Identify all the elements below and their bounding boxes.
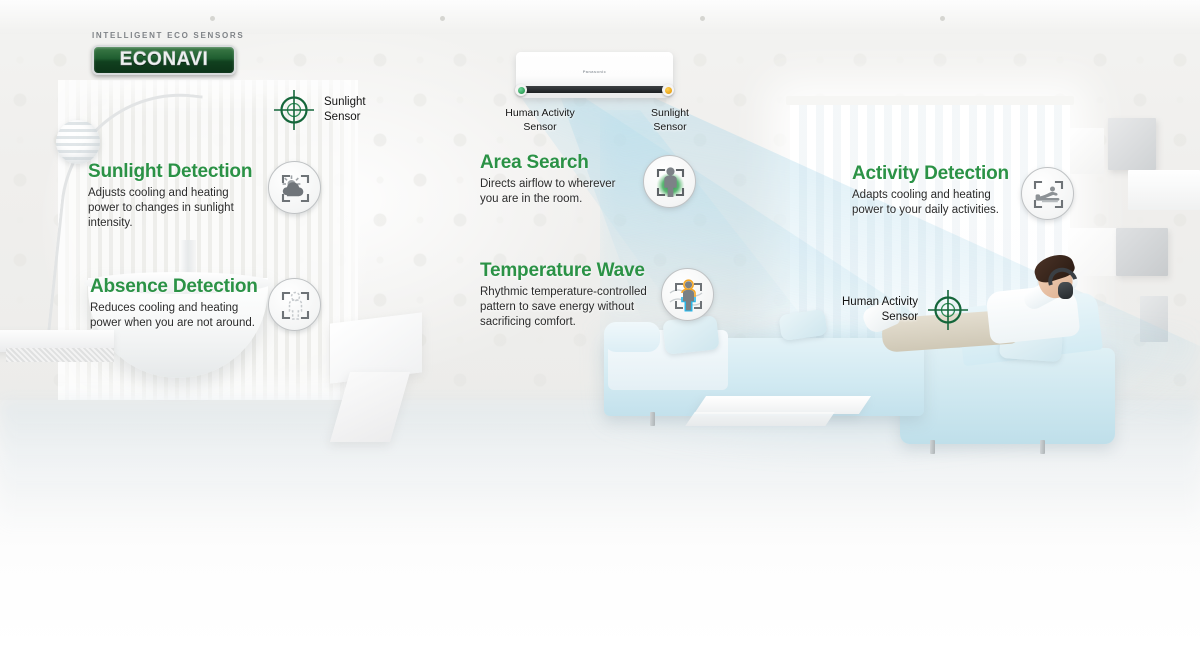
ac-brand-mark: Panasonic [583, 69, 607, 74]
headphone-earcup [1058, 282, 1073, 299]
absent-person-bracket-icon [268, 278, 321, 331]
crosshair-reticle-icon [272, 88, 316, 132]
sofa-leg [930, 440, 935, 454]
brand-block: INTELLIGENT ECO SENSORS ECONAVI [92, 31, 244, 75]
sofa-leg [650, 412, 655, 426]
feature-description: Reduces cooling and heating power when y… [90, 301, 276, 331]
econavi-logo-text: ECONAVI [120, 49, 209, 71]
ac-louver [522, 86, 667, 93]
feature-title: Sunlight Detection [88, 162, 268, 183]
sunlight-sensor-callout-label: Sunlight Sensor [324, 95, 366, 124]
ac-left-sensor-label: Human Activity Sensor [492, 107, 588, 134]
air-conditioner-unit: Panasonic [516, 52, 673, 98]
wall-shelf-cube [1128, 170, 1200, 210]
feature-description: Directs airflow to wherever you are in t… [480, 177, 662, 207]
feature-title: Absence Detection [90, 277, 276, 298]
brand-tagline: INTELLIGENT ECO SENSORS [92, 31, 244, 40]
floor-step-texture [6, 348, 114, 362]
feature-area-search: Area Search Directs airflow to wherever … [480, 153, 662, 207]
sofa-leg [1040, 440, 1045, 454]
human-activity-sensor-callout-label: Human Activity Sensor [842, 295, 918, 324]
lamp-shade [56, 120, 100, 164]
curtain-rail [786, 96, 1074, 105]
ac-right-sensor-label: Sunlight Sensor [630, 107, 710, 134]
ceiling-light [700, 16, 705, 21]
coffee-table-shelf [685, 412, 834, 426]
reclining-person-sofa-bracket-icon [1021, 167, 1074, 220]
sunlight-sensor-dot [662, 84, 674, 96]
ceiling [0, 0, 1200, 34]
feature-absence-detection: Absence Detection Reduces cooling and he… [90, 277, 276, 331]
econavi-infographic: Panasonic Human Activity Sensor Sunlight… [0, 0, 1200, 650]
human-activity-sensor-callout: Human Activity Sensor [842, 288, 970, 332]
econavi-logo: ECONAVI [92, 45, 236, 75]
feature-title: Temperature Wave [480, 261, 668, 282]
ceiling-light [440, 16, 445, 21]
feature-sunlight-detection: Sunlight Detection Adjusts cooling and h… [88, 162, 268, 231]
person-warm-cool-bracket-icon [661, 268, 714, 321]
wall-shelf-cube [1108, 118, 1156, 170]
person-green-aura-bracket-icon [643, 155, 696, 208]
feature-description: Adjusts cooling and heating power to cha… [88, 186, 268, 232]
human-activity-sensor-dot [515, 84, 527, 96]
wall-shelf-cube [1070, 128, 1104, 174]
feature-title: Area Search [480, 153, 662, 174]
feature-description: Rhythmic temperature-controlled pattern … [480, 285, 668, 331]
sunlight-sensor-callout: Sunlight Sensor [272, 88, 366, 132]
feature-temperature-wave: Temperature Wave Rhythmic temperature-co… [480, 261, 668, 330]
ceiling-light [210, 16, 215, 21]
crosshair-reticle-icon [926, 288, 970, 332]
ceiling-light [940, 16, 945, 21]
sun-cloud-bracket-icon [268, 161, 321, 214]
